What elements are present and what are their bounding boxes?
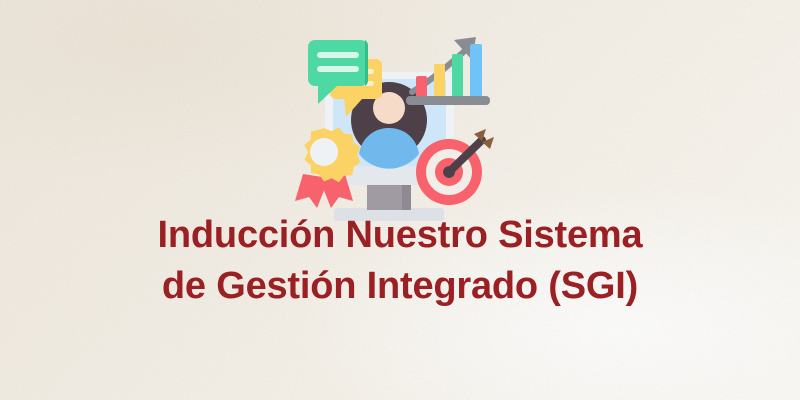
training-monitor-illustration bbox=[286, 22, 518, 227]
award-medal bbox=[295, 127, 360, 208]
title-line-1: Inducción Nuestro Sistema bbox=[0, 216, 800, 254]
page-title: Inducción Nuestro Sistema de Gestión Int… bbox=[0, 216, 800, 305]
title-line-2: de Gestión Integrado (SGI) bbox=[0, 267, 800, 305]
banner-slide: Inducción Nuestro Sistema de Gestión Int… bbox=[0, 0, 800, 400]
